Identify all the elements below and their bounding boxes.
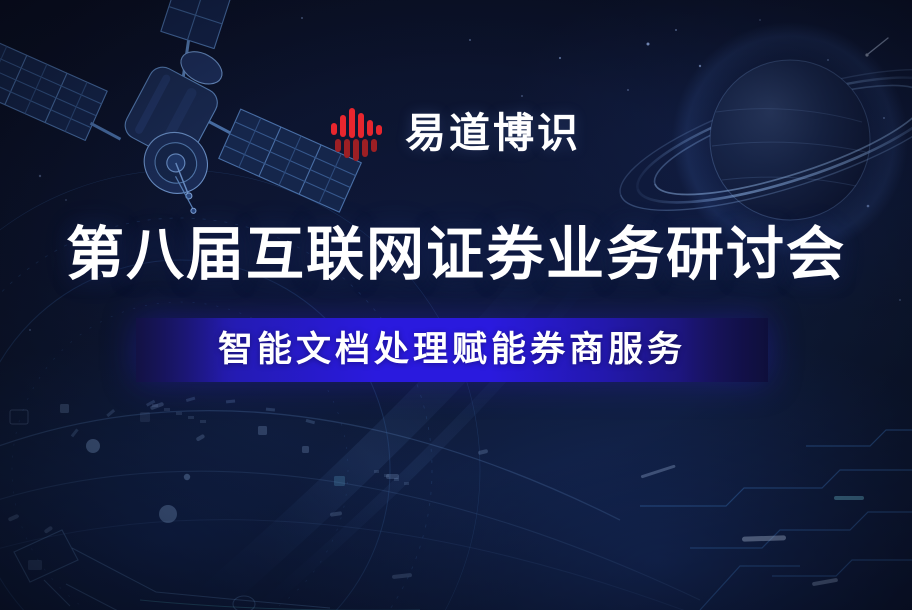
logo-bar	[362, 139, 368, 157]
brand-name: 易道博识	[405, 113, 581, 154]
brand-logo-lockup: 易道博识	[0, 100, 912, 166]
background-vignette	[0, 0, 912, 610]
event-title: 第八届互联网证券业务研讨会	[0, 222, 912, 287]
logo-bar	[340, 115, 346, 137]
subtitle-band: 智能文档处理赋能券商服务	[136, 318, 768, 382]
sound-wave-bars-logo-icon	[331, 107, 383, 159]
poster-canvas: 易道博识 第八届互联网证券业务研讨会 智能文档处理赋能券商服务	[0, 0, 912, 610]
logo-bar	[349, 108, 355, 138]
logo-bar	[376, 125, 382, 135]
logo-bar	[331, 123, 337, 135]
logo-bar	[353, 139, 359, 161]
logo-bar	[371, 139, 377, 152]
event-subtitle: 智能文档处理赋能券商服务	[218, 333, 686, 368]
logo-bar	[358, 113, 364, 138]
logo-bar	[335, 139, 341, 152]
logo-bar	[344, 139, 350, 158]
logo-bar	[367, 120, 373, 136]
